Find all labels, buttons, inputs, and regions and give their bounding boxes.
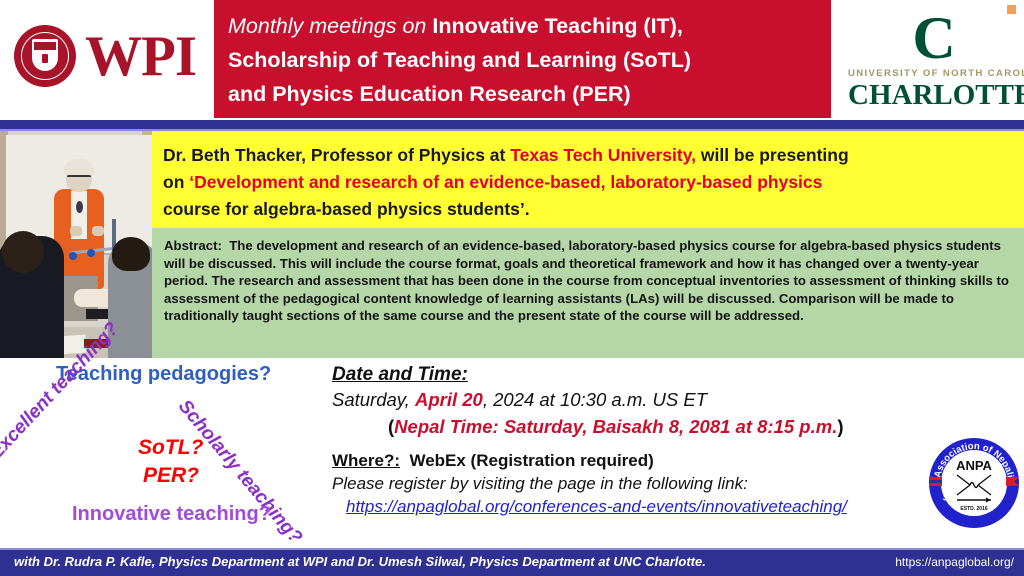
announcement-line-1: Dr. Beth Thacker, Professor of Physics a… bbox=[163, 142, 1014, 169]
announcement-panel: Dr. Beth Thacker, Professor of Physics a… bbox=[152, 131, 1024, 228]
where-value: WebEx (Registration required) bbox=[409, 451, 653, 470]
unc-charlotte-logo: C UNIVERSITY OF NORTH CAROLINA CHARLOTTE bbox=[848, 9, 1018, 114]
header: WPI Monthly meetings on Innovative Teach… bbox=[0, 0, 1024, 122]
where-label: Where?: bbox=[332, 451, 400, 470]
word-cloud: Teaching pedagogies? Excellent teaching?… bbox=[0, 358, 330, 550]
footer-site-link[interactable]: https://anpaglobal.org/ bbox=[895, 555, 1014, 569]
date-prefix: Saturday, bbox=[332, 389, 415, 410]
nepal-time-row: (Nepal Time: Saturday, Baisakh 8, 2081 a… bbox=[332, 413, 932, 440]
photo-instructor-hand-left bbox=[70, 226, 82, 236]
photo-instructor-glasses bbox=[67, 175, 91, 183]
wpi-logo: WPI bbox=[14, 18, 204, 94]
nepal-paren-close: ) bbox=[837, 416, 843, 437]
date-suffix: , 2024 at 10:30 a.m. US ET bbox=[483, 389, 707, 410]
banner-line-1-italic: Monthly meetings on bbox=[228, 14, 432, 38]
announcement-affiliation: Texas Tech University, bbox=[510, 145, 696, 165]
speaker-classroom-photo bbox=[0, 131, 152, 358]
word-sotl: SoTL? bbox=[138, 436, 203, 460]
banner-line-2: Scholarship of Teaching and Learning (So… bbox=[228, 43, 831, 77]
event-details: Date and Time: Saturday, April 20, 2024 … bbox=[332, 362, 932, 548]
nepal-time-value: Nepal Time: Saturday, Baisakh 8, 2081 at… bbox=[394, 416, 837, 437]
footer-hosts: with Dr. Rudra P. Kafle, Physics Departm… bbox=[14, 554, 706, 569]
photo-student-left-hair bbox=[2, 231, 44, 273]
header-divider bbox=[0, 120, 1024, 129]
unc-name: CHARLOTTE bbox=[848, 80, 1018, 110]
photo-instructor-necklace bbox=[76, 201, 83, 213]
banner-line-1: Monthly meetings on Innovative Teaching … bbox=[228, 9, 831, 43]
footer: with Dr. Rudra P. Kafle, Physics Departm… bbox=[0, 548, 1024, 576]
where-row: Where?: WebEx (Registration required) bbox=[332, 449, 932, 472]
anpa-center-text: ANPA bbox=[956, 458, 992, 473]
poster-root: WPI Monthly meetings on Innovative Teach… bbox=[0, 0, 1024, 576]
footer-accent-line bbox=[0, 548, 1024, 550]
anpa-logo-svg: Association of Nepali Physicists in Amer… bbox=[928, 437, 1020, 529]
photo-apparatus-ball-2 bbox=[87, 249, 95, 257]
announcement-presenting: will be presenting bbox=[696, 145, 849, 165]
word-per: PER? bbox=[143, 464, 199, 488]
abstract-text: Abstract: The development and research o… bbox=[164, 237, 1014, 325]
banner-line-3: and Physics Education Research (PER) bbox=[228, 77, 831, 111]
date-time-value: Saturday, April 20, 2024 at 10:30 a.m. U… bbox=[332, 387, 932, 413]
title-banner: Monthly meetings on Innovative Teaching … bbox=[214, 0, 831, 118]
date-time-label: Date and Time: bbox=[332, 362, 932, 387]
unc-crown-c-icon: C bbox=[848, 9, 1018, 67]
announcement-speaker: Dr. Beth Thacker, Professor of Physics a… bbox=[163, 145, 510, 165]
abstract-label: Abstract: bbox=[164, 238, 222, 253]
announcement-on: on bbox=[163, 172, 189, 192]
photo-instructor-hair bbox=[64, 159, 94, 175]
anpa-logo: Association of Nepali Physicists in Amer… bbox=[928, 437, 1020, 529]
registration-note: Please register by visiting the page in … bbox=[332, 472, 932, 495]
registration-link[interactable]: https://anpaglobal.org/conferences-and-e… bbox=[346, 495, 847, 518]
wpi-shield-icon bbox=[32, 39, 58, 71]
wpi-logo-text: WPI bbox=[85, 28, 196, 85]
anpa-established-text: ESTD. 2016 bbox=[960, 506, 987, 512]
announcement-line-2: on ‘Development and research of an evide… bbox=[163, 169, 1014, 196]
wpi-seal-icon bbox=[14, 25, 76, 87]
photo-instructor-hand-right bbox=[92, 226, 104, 236]
announcement-talk-title-part-2: course for algebra-based physics student… bbox=[163, 196, 1014, 223]
banner-line-1-bold: Innovative Teaching (IT), bbox=[432, 14, 682, 38]
photo-apparatus-ball-1 bbox=[69, 252, 77, 260]
word-innovative-teaching: Innovative teaching? bbox=[72, 503, 271, 526]
date-highlight: April 20 bbox=[415, 389, 483, 410]
abstract-panel: Abstract: The development and research o… bbox=[152, 228, 1024, 358]
abstract-body: The development and research of an evide… bbox=[164, 238, 1009, 323]
photo-student-right-hair bbox=[112, 237, 150, 271]
announcement-talk-title-part-1: ‘Development and research of an evidence… bbox=[189, 172, 822, 192]
